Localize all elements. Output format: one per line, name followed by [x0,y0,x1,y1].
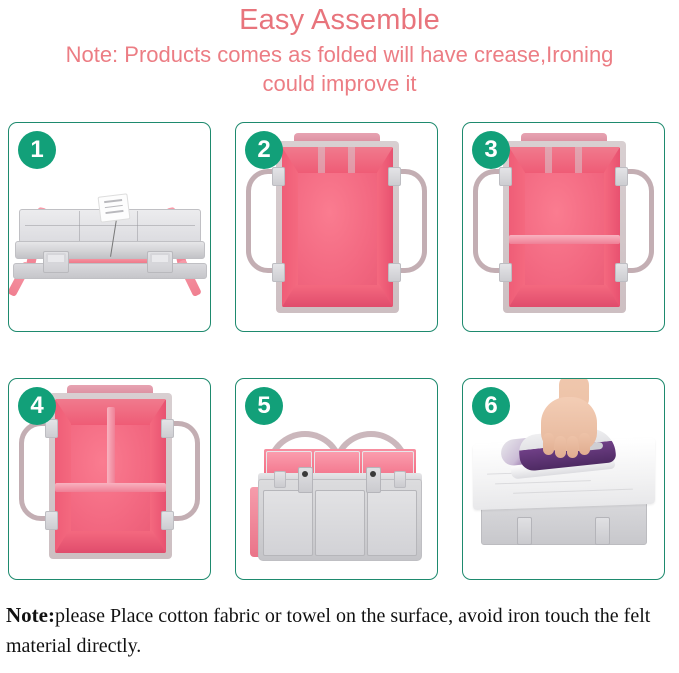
caddy-strap-left [517,517,532,545]
divider-slot-right [348,147,355,173]
handle-clip-top-left [499,167,512,186]
step-panel-6: 6 [462,378,665,580]
folded-stack [13,205,209,300]
handle-clip-bottom-right [161,511,174,530]
finger-1 [543,433,554,455]
horizontal-divider [55,483,166,492]
caddy-strap-right [595,517,610,545]
handle-clip-bottom-left [499,263,512,282]
footer-note-label: Note: [6,603,55,627]
buckle-right [150,253,170,264]
step-panel-2: 2 [235,122,438,332]
step-badge-2: 2 [245,131,283,169]
step-panel-5: 5 [235,378,438,580]
header-note: Note: Products comes as folded will have… [0,38,679,98]
handle-clip-top-right [388,167,401,186]
crease-line-2 [79,211,80,241]
step-badge-4: 4 [18,387,56,425]
step-badge-1: 1 [18,131,56,169]
handle-clip-bottom-left [272,263,285,282]
crease-line-1 [25,225,195,226]
cloth-fold-3 [513,489,633,494]
handle-clip-top-right [161,419,174,438]
handle-clip-bottom-right [615,263,628,282]
finger-2 [555,436,566,458]
handle-clip-bottom-right [388,263,401,282]
horizontal-divider [509,235,620,244]
interior-floor [298,173,377,285]
interior-wall-bottom [282,285,393,307]
front-pocket-middle [315,490,365,556]
finger-4 [579,433,590,455]
header: Easy Assemble Note: Products comes as fo… [0,0,679,98]
snap-button-left [302,471,308,477]
instruction-page: Easy Assemble Note: Products comes as fo… [0,0,679,673]
hang-tag [98,193,131,222]
step-panel-4: 4 [8,378,211,580]
divider-slot-right [575,147,582,173]
handle-clip-left [274,471,286,488]
interior-wall-top [282,147,393,173]
handle-clip-right [394,471,406,488]
snap-button-right [370,471,376,477]
buckle-left [46,253,66,264]
vertical-divider [107,407,115,487]
handle-clip-top-right [615,167,628,186]
step-panel-3: 3 [462,122,665,332]
handle-clip-bottom-left [45,511,58,530]
divider-slot-left [318,147,325,173]
interior-wall-bottom [509,285,620,307]
footer-note: Note:please Place cotton fabric or towel… [6,600,674,661]
handle-clip-top-left [272,167,285,186]
step-panel-1: 1 [8,122,211,332]
steps-grid: 1 [8,122,671,580]
finger-3 [567,436,578,458]
interior-wall-top [509,147,620,173]
front-pocket-left [263,490,313,556]
footer-note-text: please Place cotton fabric or towel on t… [6,605,650,657]
interior-floor [525,173,604,285]
step-badge-3: 3 [472,131,510,169]
box-interior [509,147,620,307]
cloth-fold-2 [495,480,591,484]
front-pocket-right [367,490,417,556]
divider-slot-left [545,147,552,173]
step-badge-5: 5 [245,387,283,425]
finished-caddy [248,431,428,567]
caddy-felt-body [258,479,422,561]
step-badge-6: 6 [472,387,510,425]
crease-line-3 [137,211,138,241]
box-interior [282,147,393,307]
interior-wall-bottom [55,531,166,553]
page-title: Easy Assemble [0,2,679,38]
